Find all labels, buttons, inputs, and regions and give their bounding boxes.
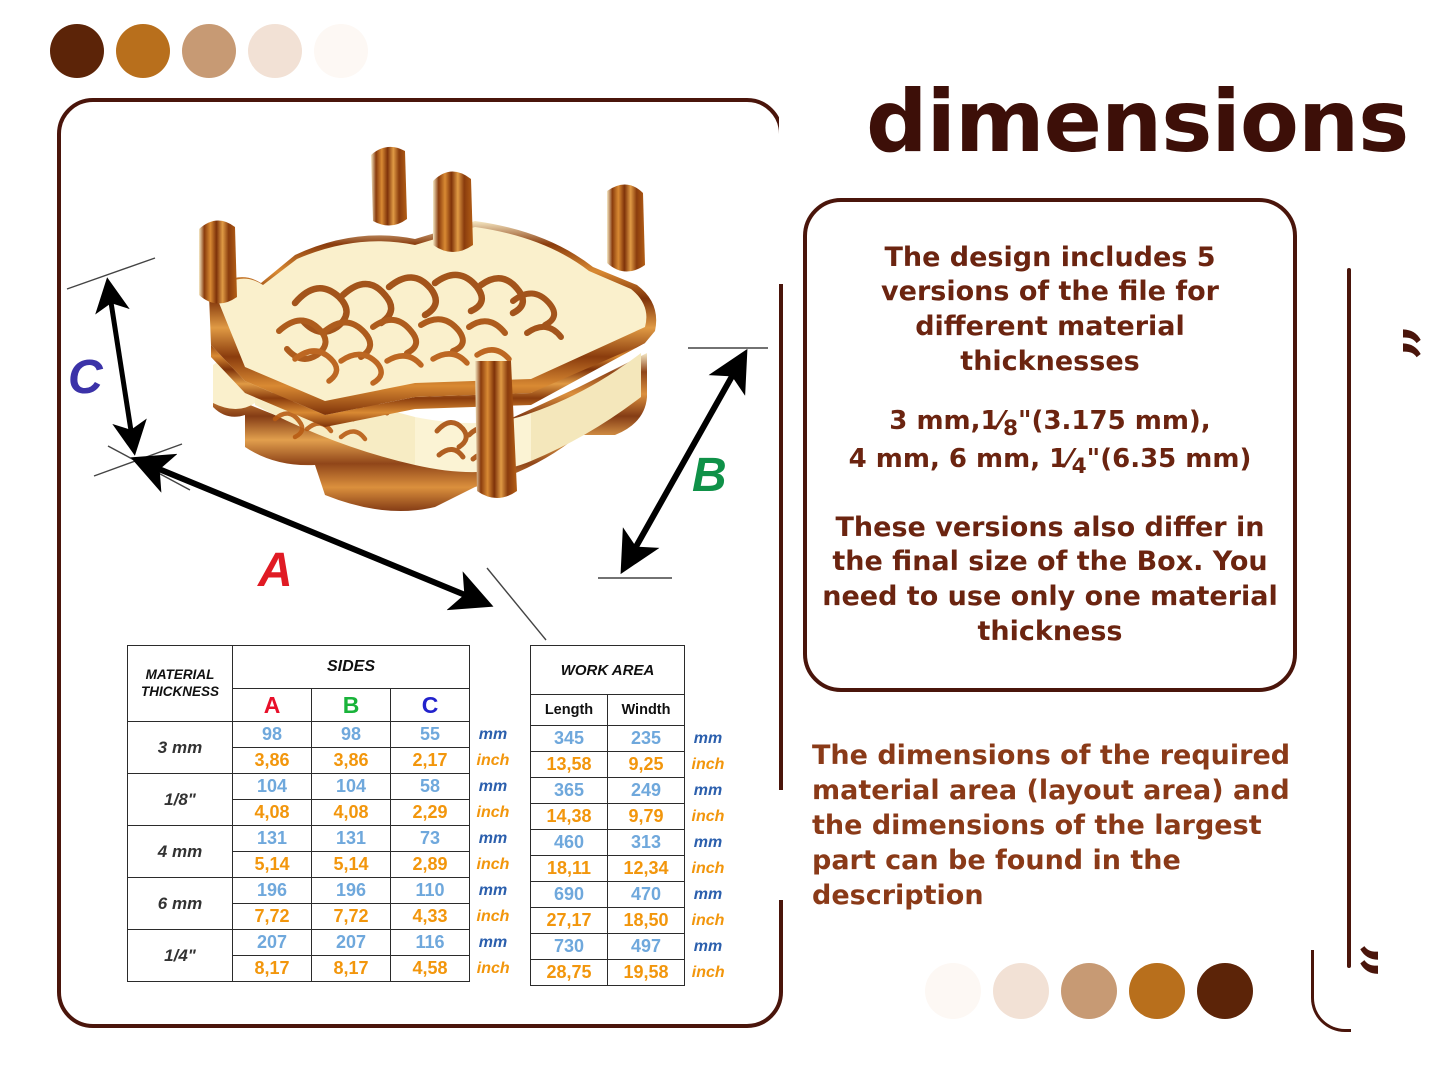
work-area-table: WORK AREA LengthWindth 345235mm13,589,25… <box>530 645 732 986</box>
sides-header-material-text: MATERIAL THICKNESS <box>141 667 219 699</box>
sides-value-inch: 8,17 <box>233 956 312 982</box>
swatch-top-4 <box>314 24 368 78</box>
unit-label-inch: inch <box>685 856 732 882</box>
info-thickness-list: 3 mm,1⁄8"(3.175 mm), 4 mm, 6 mm, 1⁄4"(6.… <box>835 405 1266 481</box>
unit-label-inch: inch <box>685 752 732 778</box>
thickness-line-2: 4 mm, 6 mm, 1⁄4"(6.35 mm) <box>849 443 1252 481</box>
dimension-label-c: C <box>68 350 103 405</box>
sides-value-mm: 131 <box>312 826 391 852</box>
fraction-denominator: 8 <box>1003 416 1018 441</box>
sides-value-mm: 116 <box>391 930 470 956</box>
swatch-bottom-2 <box>1061 963 1117 1019</box>
sides-value-mm: 207 <box>233 930 312 956</box>
thickness-line-2-post: "(6.35 mm) <box>1087 444 1252 474</box>
sides-value-inch: 2,29 <box>391 800 470 826</box>
dimension-label-a: A <box>258 543 293 598</box>
work-area-value-mm: 313 <box>608 830 685 856</box>
sides-value-mm: 73 <box>391 826 470 852</box>
work-area-value-mm: 460 <box>531 830 608 856</box>
work-area-value-inch: 18,50 <box>608 908 685 934</box>
work-unit-spacer <box>685 646 732 695</box>
sides-unit-spacer-2 <box>470 689 517 722</box>
work-area-value-mm: 345 <box>531 726 608 752</box>
swatch-top-1 <box>116 24 170 78</box>
work-area-value-mm: 470 <box>608 882 685 908</box>
thickness-line-1-post: "(3.175 mm), <box>1018 406 1211 436</box>
unit-label-inch: inch <box>470 748 517 774</box>
sides-material-cell: 1/8" <box>128 774 233 826</box>
work-area-value-inch: 9,79 <box>608 804 685 830</box>
table-row: 730497mm <box>531 934 732 960</box>
sides-value-inch: 3,86 <box>233 748 312 774</box>
sides-value-inch: 2,17 <box>391 748 470 774</box>
work-area-value-inch: 9,25 <box>608 752 685 778</box>
table-row: 460313mm <box>531 830 732 856</box>
info-paragraph-3: The dimensions of the required material … <box>812 738 1322 913</box>
fraction-one-quarter: 1⁄4 <box>1049 444 1087 474</box>
swatch-bottom-3 <box>1129 963 1185 1019</box>
quote-close-icon: ” <box>1323 943 1385 979</box>
unit-label-mm: mm <box>685 778 732 804</box>
sides-header-group: SIDES <box>233 646 470 689</box>
work-area-value-mm: 235 <box>608 726 685 752</box>
work-area-table-wrapper: WORK AREA LengthWindth 345235mm13,589,25… <box>530 645 732 986</box>
info-box: The design includes 5 versions of the fi… <box>803 198 1297 692</box>
sides-value-inch: 4,58 <box>391 956 470 982</box>
sides-value-mm: 131 <box>233 826 312 852</box>
sides-value-mm: 98 <box>233 722 312 748</box>
fraction-one-eighth: 1⁄8 <box>981 406 1019 436</box>
swatch-bottom-1 <box>993 963 1049 1019</box>
sides-value-inch: 7,72 <box>233 904 312 930</box>
sides-value-mm: 104 <box>312 774 391 800</box>
poster-canvas: dimensions <box>0 0 1445 1084</box>
table-row: 28,7519,58inch <box>531 960 732 986</box>
unit-label-mm: mm <box>470 722 517 748</box>
sides-value-mm: 207 <box>312 930 391 956</box>
work-area-value-inch: 14,38 <box>531 804 608 830</box>
unit-label-mm: mm <box>470 930 517 956</box>
sides-value-mm: 196 <box>233 878 312 904</box>
sides-value-inch: 7,72 <box>312 904 391 930</box>
unit-label-mm: mm <box>470 878 517 904</box>
sides-value-inch: 4,33 <box>391 904 470 930</box>
work-area-value-inch: 12,34 <box>608 856 685 882</box>
table-row: 18,1112,34inch <box>531 856 732 882</box>
work-area-value-mm: 497 <box>608 934 685 960</box>
info-paragraph-1: The design includes 5 versions of the fi… <box>807 241 1293 379</box>
sides-unit-spacer <box>470 646 517 689</box>
page-title: dimensions <box>866 72 1408 172</box>
table-row: 4 mm13113173mm <box>128 826 517 852</box>
table-row: 14,389,79inch <box>531 804 732 830</box>
table-row: 690470mm <box>531 882 732 908</box>
sides-value-inch: 5,14 <box>233 852 312 878</box>
table-row: 3 mm989855mm <box>128 722 517 748</box>
unit-label-inch: inch <box>470 904 517 930</box>
sides-material-cell: 1/4" <box>128 930 233 982</box>
table-row: 13,589,25inch <box>531 752 732 778</box>
thickness-line-2-pre: 4 mm, 6 mm, <box>849 444 1040 474</box>
sides-column-header-a: A <box>233 689 312 722</box>
unit-label-inch: inch <box>470 852 517 878</box>
work-area-value-inch: 28,75 <box>531 960 608 986</box>
swatch-bottom-4 <box>1197 963 1253 1019</box>
work-area-column-header: Windth <box>608 695 685 726</box>
work-area-column-header: Length <box>531 695 608 726</box>
fraction-numerator-2: 1 <box>1049 444 1067 474</box>
swatch-bottom-0 <box>925 963 981 1019</box>
table-row: 1/8"10410458mm <box>128 774 517 800</box>
unit-label-inch: inch <box>685 804 732 830</box>
table-row: 27,1718,50inch <box>531 908 732 934</box>
sides-value-inch: 2,89 <box>391 852 470 878</box>
sides-value-mm: 58 <box>391 774 470 800</box>
sides-value-inch: 3,86 <box>312 748 391 774</box>
work-area-value-mm: 690 <box>531 882 608 908</box>
work-unit-spacer-2 <box>685 695 732 726</box>
thickness-line-1-pre: 3 mm, <box>889 406 980 436</box>
sides-value-inch: 5,14 <box>312 852 391 878</box>
fraction-numerator: 1 <box>981 406 999 436</box>
quote-open-icon: “ <box>1365 325 1427 361</box>
unit-label-mm: mm <box>685 882 732 908</box>
unit-label-inch: inch <box>470 956 517 982</box>
swatch-top-0 <box>50 24 104 78</box>
table-row: 6 mm196196110mm <box>128 878 517 904</box>
work-area-value-inch: 13,58 <box>531 752 608 778</box>
sides-column-header-c: C <box>391 689 470 722</box>
sides-value-inch: 4,08 <box>312 800 391 826</box>
sides-value-inch: 8,17 <box>312 956 391 982</box>
palette-swatches-bottom <box>925 963 1253 1019</box>
table-row: 345235mm <box>531 726 732 752</box>
fraction-denominator-2: 4 <box>1072 454 1087 479</box>
sides-table: MATERIAL THICKNESS SIDES ABC 3 mm989855m… <box>127 645 517 982</box>
thickness-line-1: 3 mm,1⁄8"(3.175 mm), <box>849 405 1252 443</box>
work-area-value-mm: 249 <box>608 778 685 804</box>
work-area-value-inch: 18,11 <box>531 856 608 882</box>
unit-label-inch: inch <box>685 908 732 934</box>
work-area-value-mm: 365 <box>531 778 608 804</box>
credit-bracket-line <box>1347 268 1351 968</box>
unit-label-inch: inch <box>470 800 517 826</box>
product-illustration <box>175 135 685 525</box>
table-row: 365249mm <box>531 778 732 804</box>
unit-label-mm: mm <box>685 934 732 960</box>
sides-value-mm: 98 <box>312 722 391 748</box>
swatch-top-3 <box>248 24 302 78</box>
work-area-value-inch: 27,17 <box>531 908 608 934</box>
work-area-header-group: WORK AREA <box>531 646 685 695</box>
info-paragraph-2: These versions also differ in the final … <box>807 511 1293 649</box>
sides-material-cell: 4 mm <box>128 826 233 878</box>
unit-label-mm: mm <box>470 774 517 800</box>
unit-label-mm: mm <box>685 830 732 856</box>
sides-table-wrapper: MATERIAL THICKNESS SIDES ABC 3 mm989855m… <box>127 645 517 982</box>
dimension-label-b: B <box>692 448 727 503</box>
unit-label-inch: inch <box>685 960 732 986</box>
sides-value-mm: 104 <box>233 774 312 800</box>
work-area-value-mm: 730 <box>531 934 608 960</box>
sides-column-header-b: B <box>312 689 391 722</box>
sides-material-cell: 6 mm <box>128 878 233 930</box>
sides-value-mm: 55 <box>391 722 470 748</box>
sides-value-mm: 196 <box>312 878 391 904</box>
sides-value-mm: 110 <box>391 878 470 904</box>
work-area-value-inch: 19,58 <box>608 960 685 986</box>
unit-label-mm: mm <box>685 726 732 752</box>
sides-value-inch: 4,08 <box>233 800 312 826</box>
palette-swatches-top <box>50 24 368 78</box>
unit-label-mm: mm <box>470 826 517 852</box>
sides-header-material: MATERIAL THICKNESS <box>128 646 233 722</box>
swatch-top-2 <box>182 24 236 78</box>
sides-material-cell: 3 mm <box>128 722 233 774</box>
table-row: 1/4"207207116mm <box>128 930 517 956</box>
